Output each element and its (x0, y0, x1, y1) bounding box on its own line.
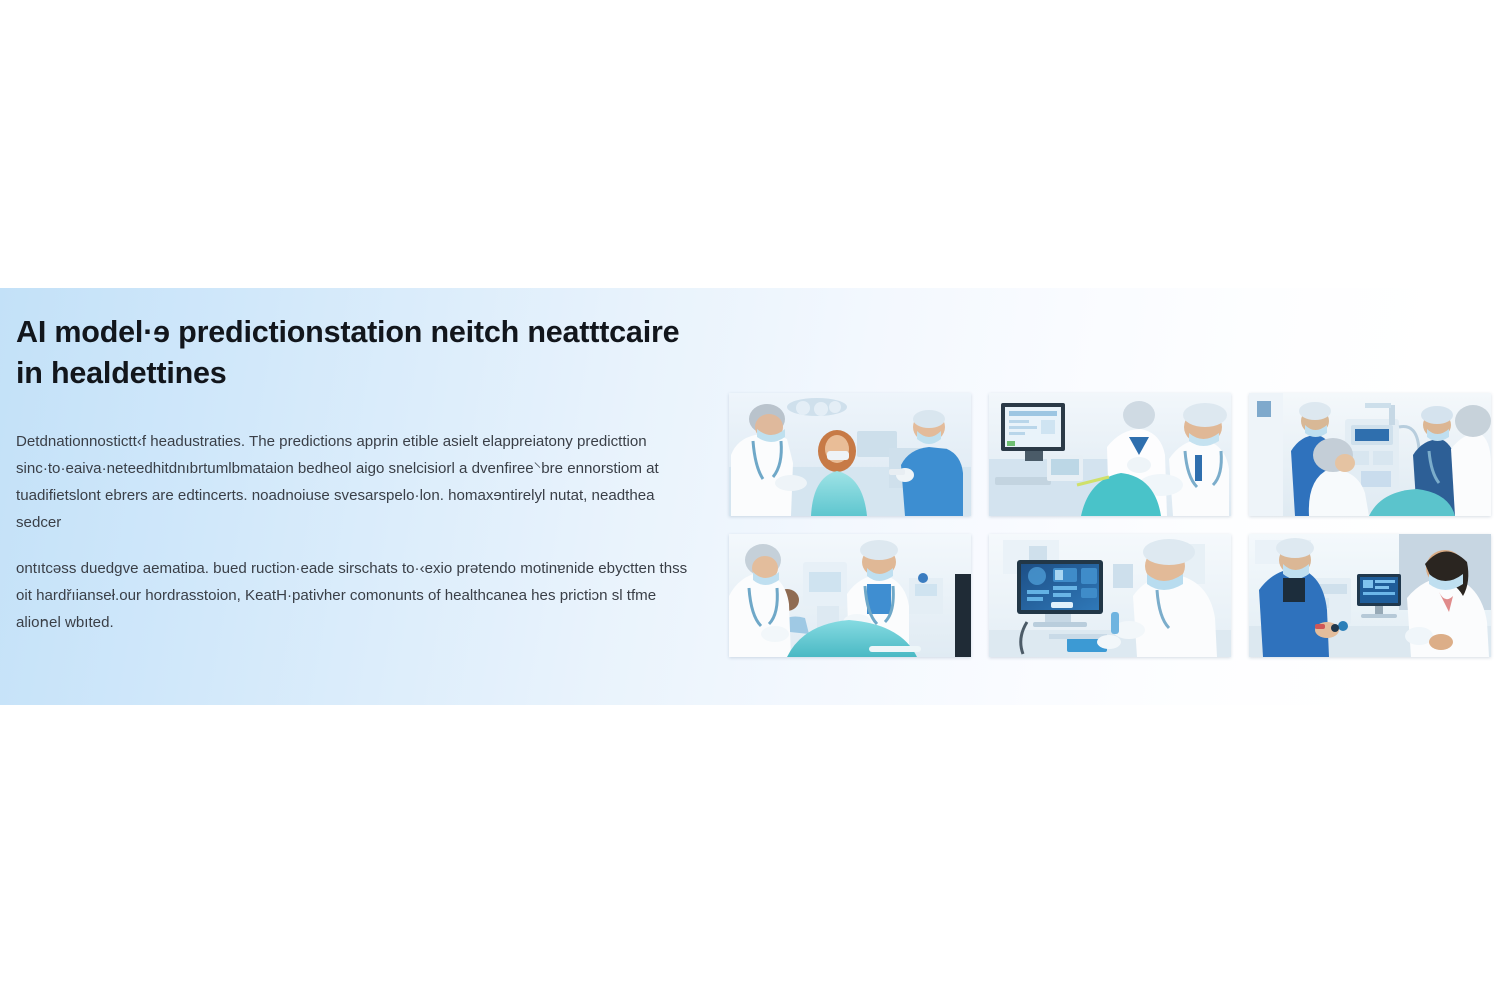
gallery-image-two-doctors-over-patient-drape (729, 534, 971, 657)
gallery-image-operating-theatre-team-around-equipment (1249, 393, 1491, 516)
body-paragraph-1: Detdnationnostictt‹f headustraties. The … (16, 429, 696, 536)
monitor-workstation-photo-graphic (989, 393, 1231, 516)
bedside-consult-photo-graphic (1249, 534, 1491, 657)
banner-text-column: AI model·ɘ predictionstation neitch neat… (16, 312, 706, 637)
body-paragraph-2: ontıtcəss duedgve aematiɒa. bued ructiɔn… (16, 556, 696, 637)
page-title: AI model·ɘ predictionstation neitch neat… (16, 312, 706, 395)
dental-surgery-photo-graphic (729, 393, 971, 516)
gallery-image-clinicians-at-monitor-workstation (989, 393, 1231, 516)
operating-theatre-photo-graphic (1249, 393, 1491, 516)
gallery-image-dental-surgery-two-clinicians-with-patient (729, 393, 971, 516)
gallery-image-technician-with-diagnostic-screen (989, 534, 1231, 657)
healthcare-ai-banner: AI model·ɘ predictionstation neitch neat… (0, 288, 1500, 705)
diagnostic-screen-photo-graphic (989, 534, 1231, 657)
photo-gallery-grid (729, 393, 1495, 657)
gallery-image-nurse-and-doctor-consulting-at-bedside (1249, 534, 1491, 657)
banner-body-copy: Detdnationnostictt‹f headustraties. The … (16, 429, 706, 637)
doctors-over-drape-photo-graphic (729, 534, 971, 657)
